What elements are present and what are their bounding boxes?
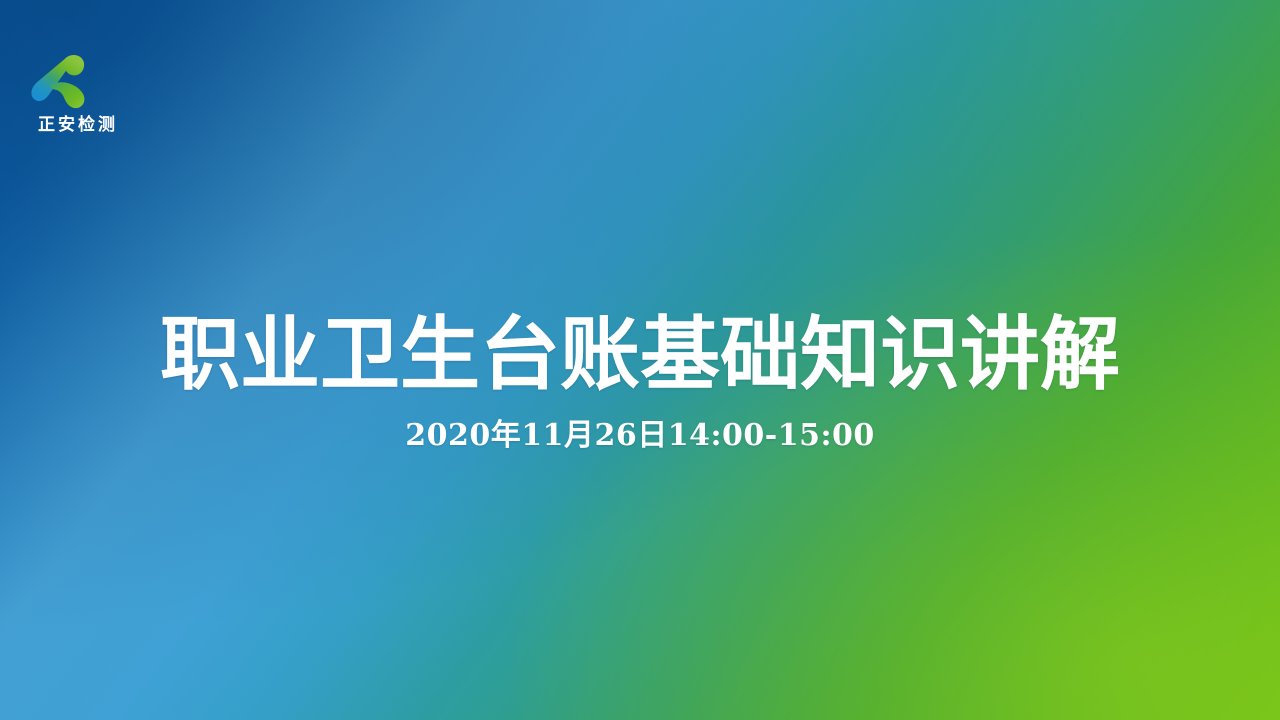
slide-title: 职业卫生台账基础知识讲解: [0, 306, 1280, 402]
company-name: 正安检测: [12, 114, 144, 136]
zhengan-people-mark-icon: [28, 50, 92, 114]
title-slide: 正安检测 职业卫生台账基础知识讲解 2020年11月26日14:00-15:00: [0, 0, 1280, 720]
brand-logo: 正安检测: [12, 50, 144, 150]
slide-subtitle-datetime: 2020年11月26日14:00-15:00: [0, 415, 1280, 457]
